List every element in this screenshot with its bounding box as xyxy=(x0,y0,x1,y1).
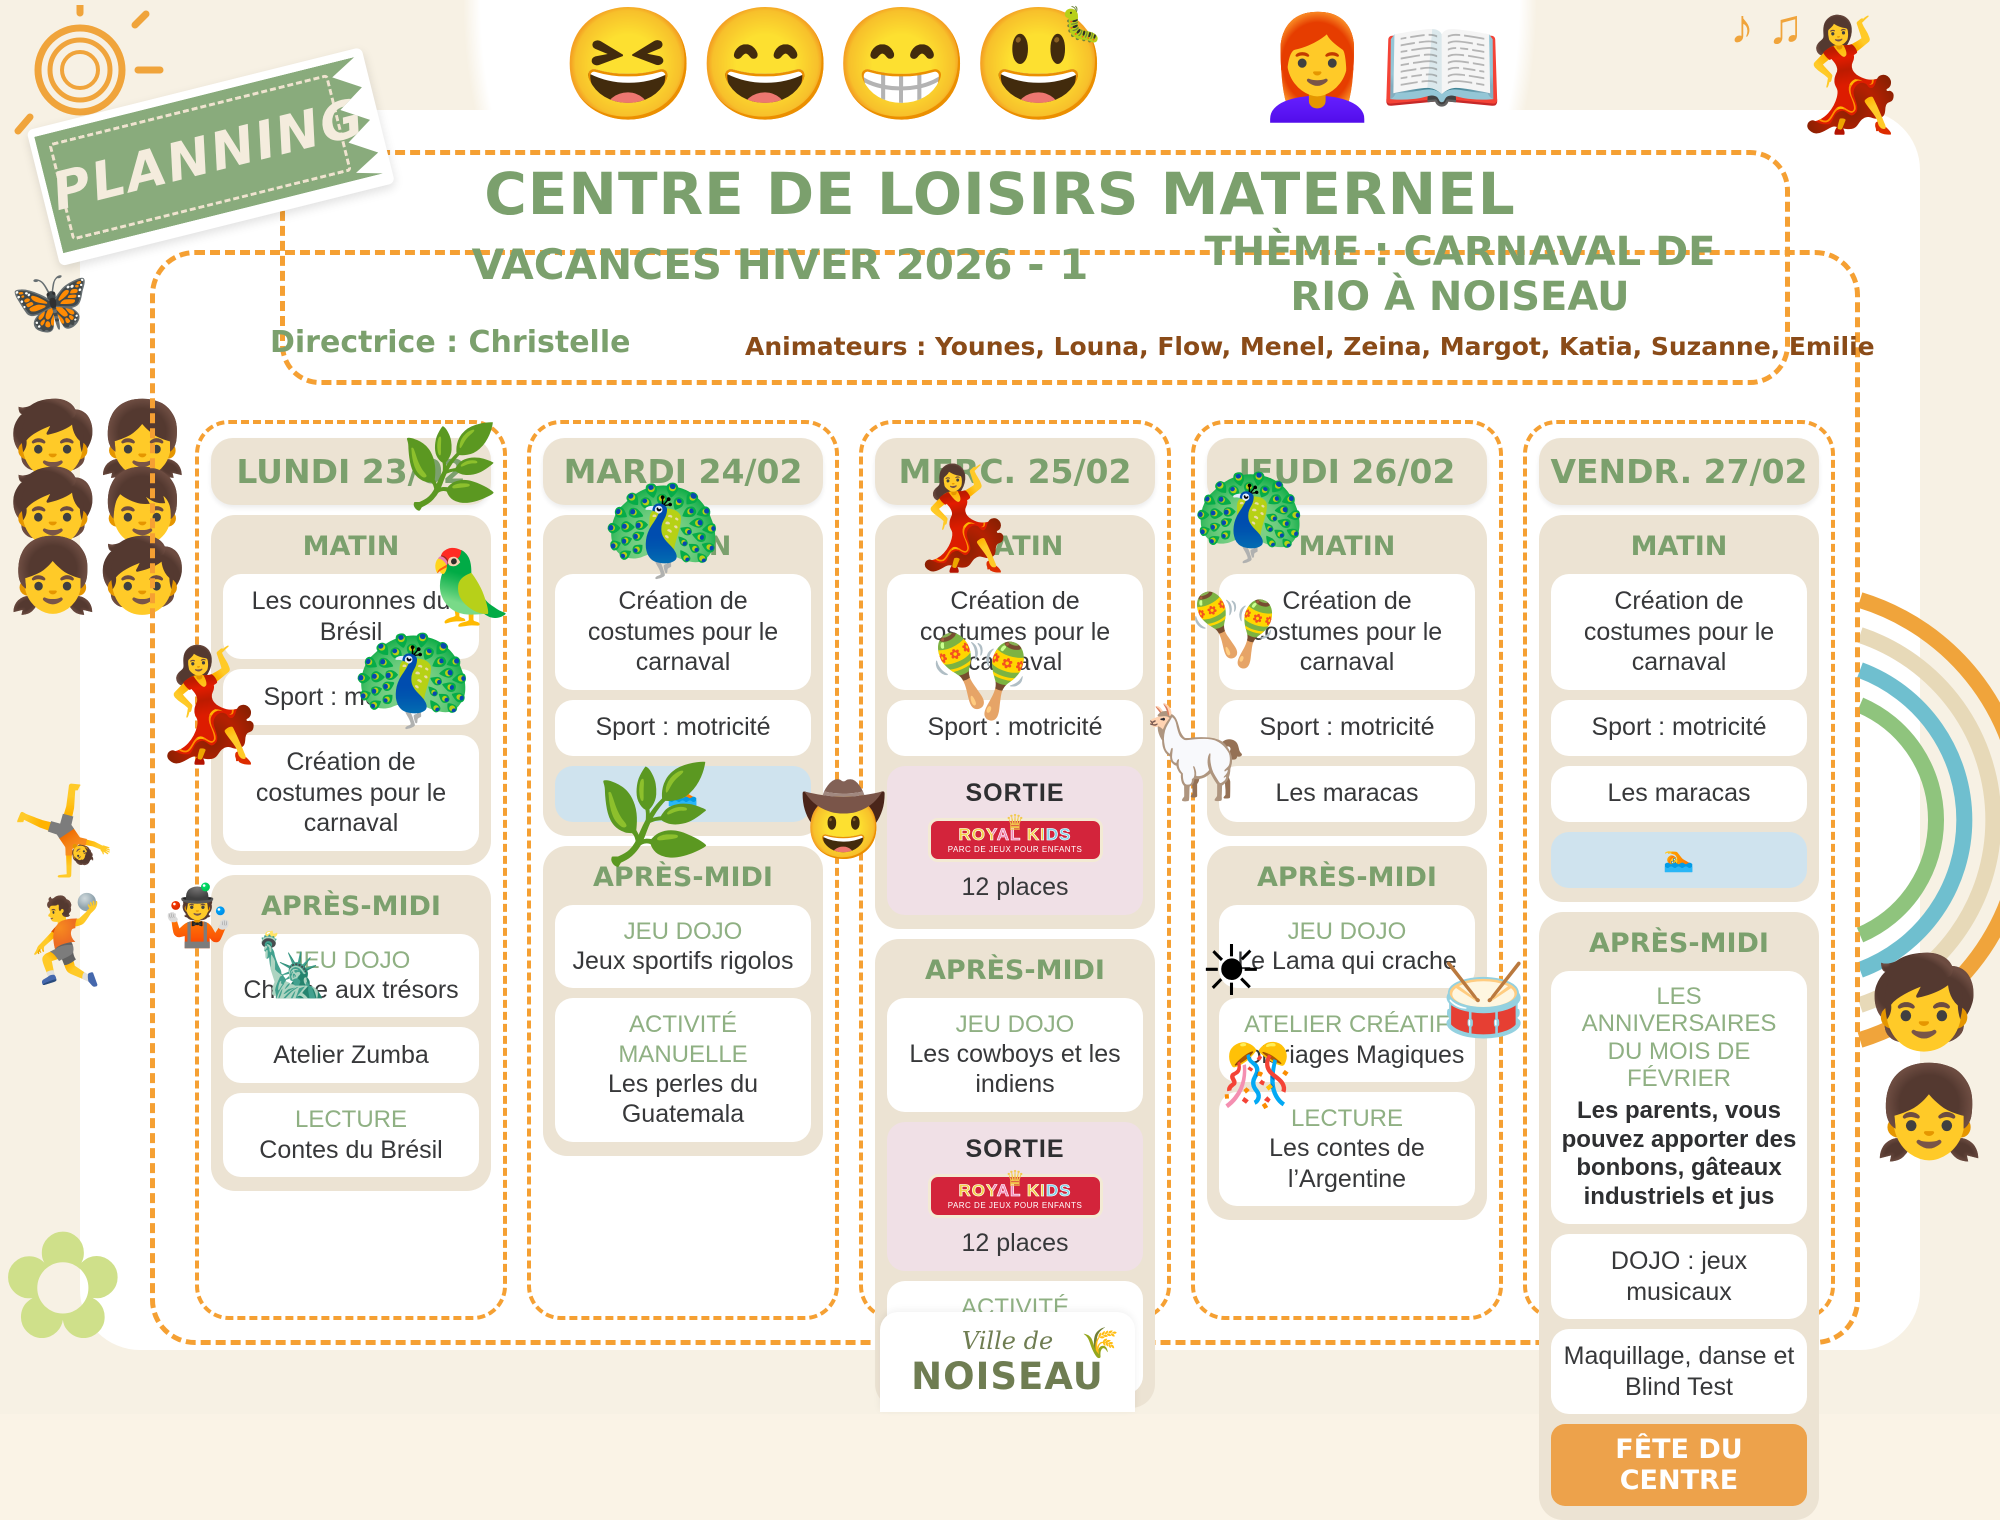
crown-icon: ♛ xyxy=(1005,810,1025,837)
royal-kids-tagline: PARC DE JEUX POUR ENFANTS xyxy=(948,845,1083,855)
afternoon-section: APRÈS-MIDILES ANNIVERSAIRES DU MOIS DE F… xyxy=(1539,912,1819,1520)
royal-kids-tagline: PARC DE JEUX POUR ENFANTS xyxy=(948,1201,1083,1211)
activity-tag: JEU DOJO xyxy=(897,1010,1133,1039)
activity-text: Chasse aux trésors xyxy=(233,975,469,1006)
activity-card: Les couronnes du Brésil xyxy=(223,574,479,659)
page-theme: THÈME : CARNAVAL DE RIO À NOISEAU xyxy=(1180,230,1740,320)
sortie-card: SORTIE♛ROYAL KIDSPARC DE JEUX POUR ENFAN… xyxy=(887,1122,1143,1271)
activity-tag: JEU DOJO xyxy=(233,946,469,975)
activity-text: Coloriages Magiques xyxy=(1229,1040,1465,1071)
week-columns: LUNDI 23/02MATINLes couronnes du BrésilS… xyxy=(195,420,1835,1320)
activity-text: Les couronnes du Brésil xyxy=(233,586,469,647)
afternoon-title: APRÈS-MIDI xyxy=(1551,924,1807,961)
afternoon-section: APRÈS-MIDIJEU DOJOLe Lama qui cracheATEL… xyxy=(1207,846,1487,1221)
activity-card: JEU DOJOJeux sportifs rigolos xyxy=(555,905,811,989)
activity-card: Les maracas xyxy=(1219,766,1475,822)
sortie-label: SORTIE xyxy=(897,1134,1133,1165)
activity-card: LECTURELes contes de l’Argentine xyxy=(1219,1092,1475,1206)
activity-card: Atelier Zumba xyxy=(223,1027,479,1083)
sortie-places: 12 places xyxy=(897,1228,1133,1259)
activity-tag: JEU DOJO xyxy=(565,917,801,946)
activity-text: Création de costumes pour le carnaval xyxy=(897,586,1133,678)
morning-section: MATINCréation de costumes pour le carnav… xyxy=(543,515,823,836)
activity-card: Création de costumes pour le carnaval xyxy=(223,735,479,851)
caterpillar-doodle-icon: 🐛 xyxy=(1060,5,1102,45)
butterfly-doodle-icon: 🦋 xyxy=(10,265,90,340)
activity-card: JEU DOJOLe Lama qui crache xyxy=(1219,905,1475,989)
activity-text: Maquillage, danse et Blind Test xyxy=(1561,1341,1797,1402)
activity-bold-note: Les parents, vous pouvez apporter des bo… xyxy=(1561,1097,1797,1212)
activity-tag: LES ANNIVERSAIRES DU MOIS DE FÉVRIER xyxy=(1561,983,1797,1093)
activity-card: ATELIER CRÉATIFColoriages Magiques xyxy=(1219,998,1475,1082)
activity-card: LECTUREContes du Brésil xyxy=(223,1093,479,1177)
activity-card: Maquillage, danse et Blind Test xyxy=(1551,1329,1807,1414)
day-column: JEUDI 26/02MATINCréation de costumes pou… xyxy=(1191,420,1503,1320)
activity-text: DOJO : jeux musicaux xyxy=(1561,1246,1797,1307)
crown-icon: ♛ xyxy=(1005,1166,1025,1193)
royal-kids-logo: ♛ROYAL KIDSPARC DE JEUX POUR ENFANTS xyxy=(928,818,1103,862)
activity-text: Sport : motricité xyxy=(1229,712,1465,743)
activity-text: Sport : motricité xyxy=(565,712,801,743)
activity-card: Sport : motricité xyxy=(887,700,1143,756)
activity-text: Création de costumes pour le carnaval xyxy=(1561,586,1797,678)
activity-text: Les maracas xyxy=(1229,778,1465,809)
activity-text: Atelier Zumba xyxy=(233,1040,469,1071)
day-column: VENDR. 27/02MATINCréation de costumes po… xyxy=(1523,420,1835,1320)
afternoon-title: APRÈS-MIDI xyxy=(1219,858,1475,895)
day-column: LUNDI 23/02MATINLes couronnes du BrésilS… xyxy=(195,420,507,1320)
activity-card: ACTIVITÉ MANUELLELes perles du Guatemala xyxy=(555,998,811,1142)
afternoon-title: APRÈS-MIDI xyxy=(887,951,1143,988)
activity-card: Les maracas xyxy=(1551,766,1807,822)
activity-card: DOJO : jeux musicaux xyxy=(1551,1234,1807,1319)
activity-card: JEU DOJOLes cowboys et les indiens xyxy=(887,998,1143,1112)
activity-text: Création de costumes pour le carnaval xyxy=(565,586,801,678)
day-header: LUNDI 23/02 xyxy=(211,438,491,505)
afternoon-section: APRÈS-MIDIJEU DOJOChasse aux trésorsAtel… xyxy=(211,875,491,1192)
morning-title: MATIN xyxy=(1219,527,1475,564)
activity-tag: ACTIVITÉ MANUELLE xyxy=(565,1010,801,1069)
activity-card: Création de costumes pour le carnaval xyxy=(1551,574,1807,690)
morning-section: MATINCréation de costumes pour le carnav… xyxy=(1539,515,1819,902)
activity-card: Création de costumes pour le carnaval xyxy=(555,574,811,690)
activity-text: Les cowboys et les indiens xyxy=(897,1039,1133,1100)
activity-card: Sport : motricité xyxy=(223,669,479,725)
morning-section: MATINCréation de costumes pour le carnav… xyxy=(875,515,1155,929)
activity-text: Le Lama qui crache xyxy=(1229,946,1465,977)
music-notes-icon: ♪ ♫ xyxy=(1730,0,1803,55)
day-header: VENDR. 27/02 xyxy=(1539,438,1819,505)
activity-text: 🏊 xyxy=(1561,844,1797,875)
activity-card: LES ANNIVERSAIRES DU MOIS DE FÉVRIERLes … xyxy=(1551,971,1807,1225)
day-column: MARDI 24/02MATINCréation de costumes pou… xyxy=(527,420,839,1320)
afternoon-title: APRÈS-MIDI xyxy=(555,858,811,895)
activity-card: Création de costumes pour le carnaval xyxy=(887,574,1143,690)
morning-title: MATIN xyxy=(887,527,1143,564)
flower-doodle-icon: ✿ xyxy=(0,1200,126,1374)
day-column: MERC. 25/02MATINCréation de costumes pou… xyxy=(859,420,1171,1320)
activity-text: Sport : motricité xyxy=(1561,712,1797,743)
morning-section: MATINCréation de costumes pour le carnav… xyxy=(1207,515,1487,836)
activity-card: 🏊 xyxy=(1551,832,1807,888)
city-logo-line2: NOISEAU xyxy=(911,1355,1104,1398)
activity-card: JEU DOJOChasse aux trésors xyxy=(223,934,479,1018)
wheat-icon: 🌾 xyxy=(1082,1326,1119,1361)
page-subtitle: VACANCES HIVER 2026 - 1 xyxy=(420,240,1140,289)
activity-card: Sport : motricité xyxy=(1219,700,1475,756)
activity-text: Création de costumes pour le carnaval xyxy=(233,747,469,839)
sortie-label: SORTIE xyxy=(897,778,1133,809)
activity-card: Création de costumes pour le carnaval xyxy=(1219,574,1475,690)
page-title: CENTRE DE LOISIRS MATERNEL xyxy=(470,160,1530,228)
activity-card: 🏊 xyxy=(555,766,811,822)
afternoon-section: APRÈS-MIDIJEU DOJOJeux sportifs rigolosA… xyxy=(543,846,823,1156)
activity-text: Les contes de l’Argentine xyxy=(1229,1133,1465,1194)
day-header: MARDI 24/02 xyxy=(543,438,823,505)
activity-tag: LECTURE xyxy=(233,1105,469,1134)
royal-kids-logo: ♛ROYAL KIDSPARC DE JEUX POUR ENFANTS xyxy=(928,1174,1103,1218)
morning-title: MATIN xyxy=(555,527,811,564)
morning-title: MATIN xyxy=(1551,527,1807,564)
activity-tag: LECTURE xyxy=(1229,1104,1465,1133)
city-logo-line1: Ville de xyxy=(962,1327,1053,1355)
activity-text: Création de costumes pour le carnaval xyxy=(1229,586,1465,678)
activity-text: Sport : motricité xyxy=(233,682,469,713)
day-header: JEUDI 26/02 xyxy=(1207,438,1487,505)
activity-text: Contes du Brésil xyxy=(233,1135,469,1166)
fete-du-centre-button[interactable]: FÊTE DU CENTRE xyxy=(1551,1424,1807,1506)
swimmer-icon: 🏊 xyxy=(1663,845,1694,873)
morning-title: MATIN xyxy=(223,527,479,564)
sortie-card: SORTIE♛ROYAL KIDSPARC DE JEUX POUR ENFAN… xyxy=(887,766,1143,915)
activity-tag: ATELIER CRÉATIF xyxy=(1229,1010,1465,1039)
activity-text: Les perles du Guatemala xyxy=(565,1069,801,1130)
activity-text: Sport : motricité xyxy=(897,712,1133,743)
activity-tag: JEU DOJO xyxy=(1229,917,1465,946)
swimmer-icon: 🏊 xyxy=(667,779,698,807)
activity-text: Les maracas xyxy=(1561,778,1797,809)
animators-label: Animateurs : Younes, Louna, Flow, Menel,… xyxy=(745,332,1745,361)
activity-text: Jeux sportifs rigolos xyxy=(565,946,801,977)
sortie-places: 12 places xyxy=(897,872,1133,903)
activity-card: Sport : motricité xyxy=(1551,700,1807,756)
activity-card: Sport : motricité xyxy=(555,700,811,756)
morning-section: MATINLes couronnes du BrésilSport : motr… xyxy=(211,515,491,865)
city-logo: 🌾 Ville de NOISEAU xyxy=(880,1312,1135,1412)
director-label: Directrice : Christelle xyxy=(270,325,690,360)
activity-text: 🏊 xyxy=(565,778,801,809)
poster-background: 🦋 🧒👧🧒👦👧🧒 🤸 🤾 ✿ 😆😄😁😃 🐛 👩‍🦰📖 ♪ ♫ 💃 🧒 👧 PLA… xyxy=(0,0,2000,1414)
day-header: MERC. 25/02 xyxy=(875,438,1155,505)
afternoon-title: APRÈS-MIDI xyxy=(223,887,479,924)
